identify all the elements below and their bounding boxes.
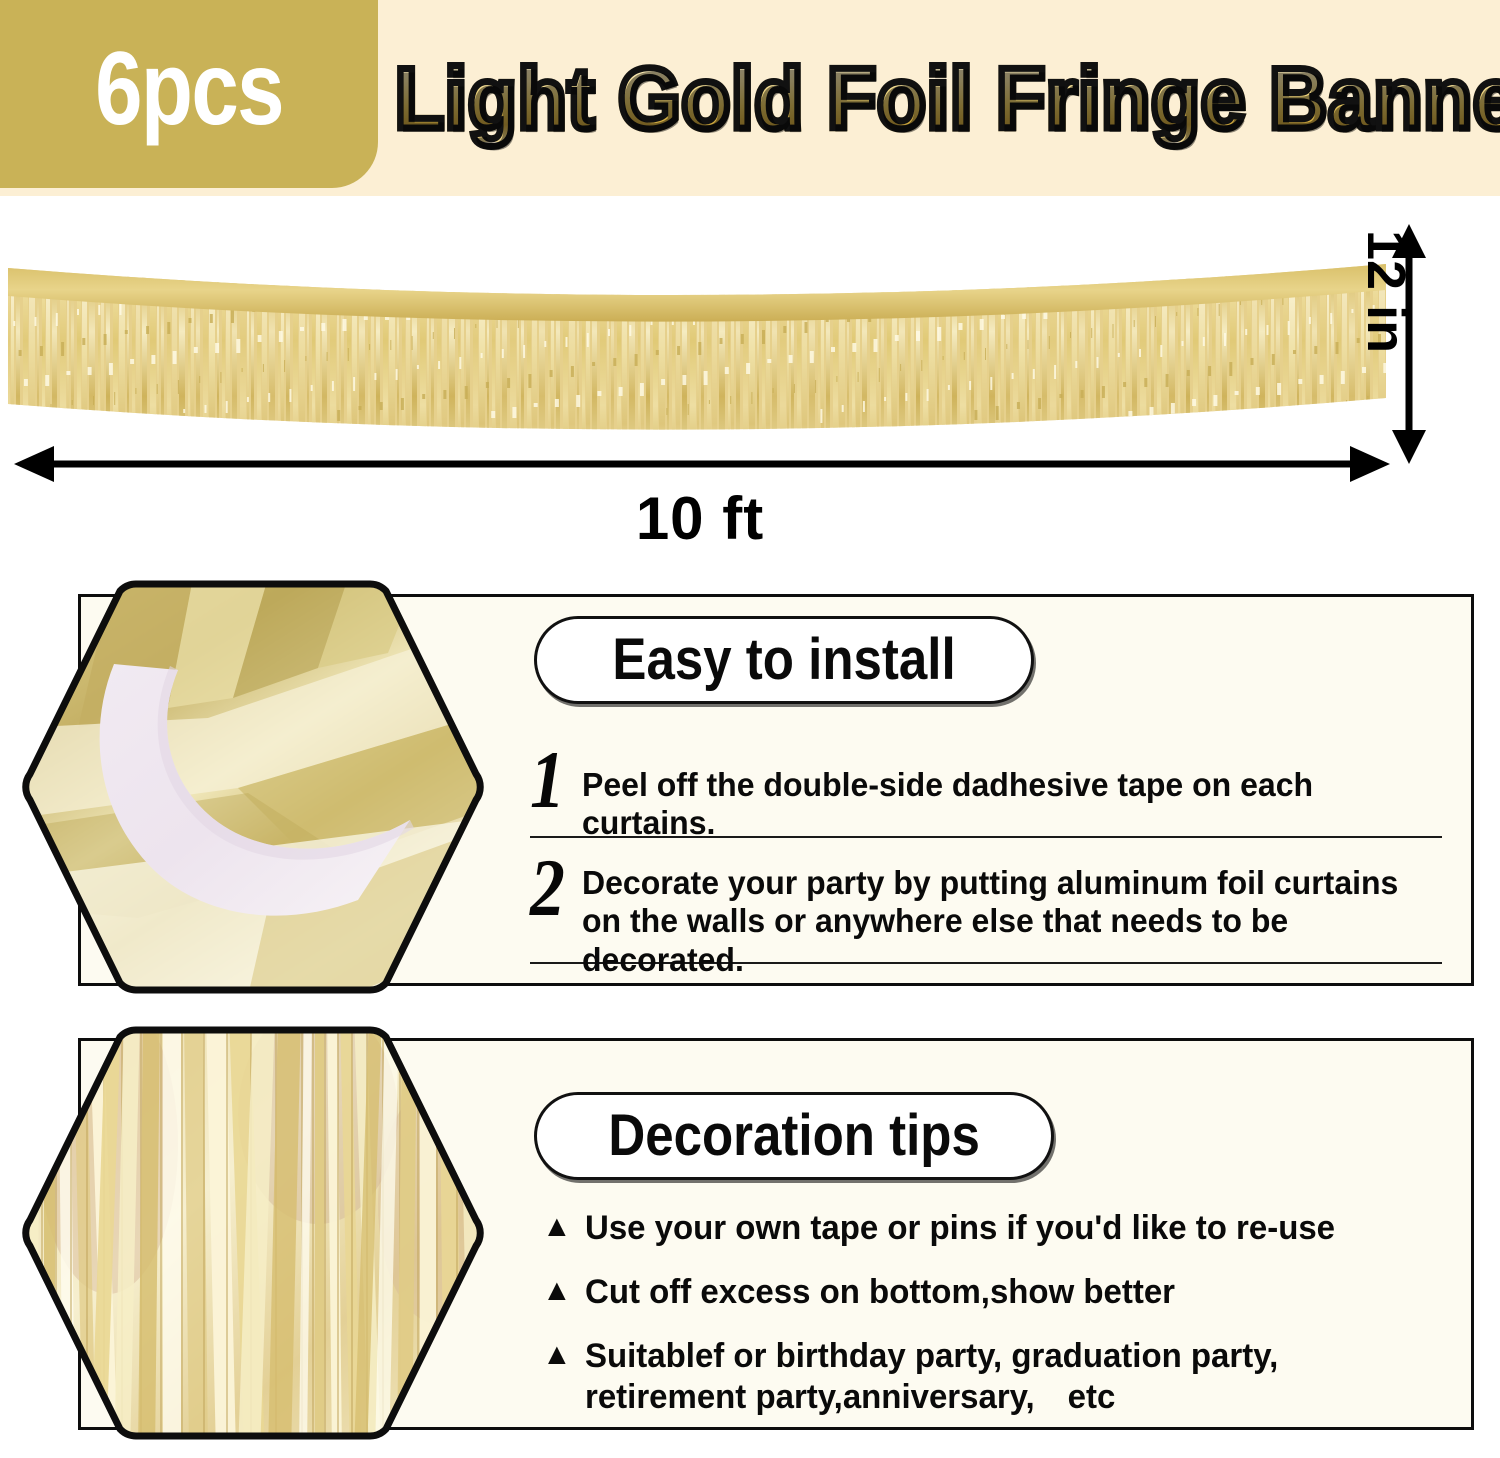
install-step-1: 1 Peel off the double-side dadhesive tap…: [530, 752, 1442, 838]
install-step-2-text: Decorate your party by putting aluminum …: [582, 860, 1416, 979]
easy-to-install-title-pill: Easy to install: [534, 616, 1034, 704]
triangle-bullet-icon: ▲: [542, 1208, 572, 1246]
easy-to-install-title-text: Easy to install: [612, 631, 955, 689]
decoration-tip-1: ▲ Use your own tape or pins if you'd lik…: [542, 1208, 1454, 1249]
decoration-tips-title-pill: Decoration tips: [534, 1092, 1054, 1180]
decoration-tip-2: ▲ Cut off excess on bottom,show better: [542, 1272, 1454, 1313]
page-title: Light Gold Foil Fringe Banner: [395, 44, 1485, 154]
fringe-strands-photo: [18, 1024, 488, 1442]
header-banner: 6pcs Light Gold Foil Fringe Banner: [0, 0, 1500, 196]
decoration-tips-title-text: Decoration tips: [608, 1107, 980, 1165]
triangle-bullet-icon: ▲: [542, 1272, 572, 1310]
fringe-banner-image: [8, 246, 1386, 461]
width-dimension-arrow: [14, 442, 1390, 486]
install-step-2: 2 Decorate your party by putting aluminu…: [530, 860, 1442, 964]
fringe-strands-hexagon-svg: [18, 1024, 488, 1442]
height-dimension-label: 12 in: [1356, 230, 1416, 460]
decoration-tip-3: ▲ Suitablef or birthday party, graduatio…: [542, 1336, 1454, 1418]
product-showcase: 12 in 10 ft: [0, 196, 1500, 566]
install-step-2-number: 2: [530, 854, 571, 921]
install-step-1-text: Peel off the double-side dadhesive tape …: [582, 752, 1416, 843]
adhesive-tape-hexagon-svg: [18, 578, 488, 996]
decoration-tip-1-text: Use your own tape or pins if you'd like …: [585, 1208, 1335, 1249]
triangle-bullet-icon: ▲: [542, 1336, 572, 1374]
quantity-badge: 6pcs: [34, 0, 344, 188]
decoration-tip-3-text: Suitablef or birthday party, graduation …: [585, 1336, 1428, 1418]
adhesive-tape-photo: [18, 578, 488, 996]
page-title-text: Light Gold Foil Fringe Banner: [395, 56, 1500, 142]
fringe-strands: [8, 246, 1386, 461]
width-arrow-svg: [14, 442, 1390, 486]
decoration-tip-2-text: Cut off excess on bottom,show better: [585, 1272, 1175, 1313]
install-step-1-number: 1: [530, 746, 571, 813]
fringe-banner-svg: [8, 246, 1386, 461]
width-dimension-label: 10 ft: [0, 484, 1400, 553]
